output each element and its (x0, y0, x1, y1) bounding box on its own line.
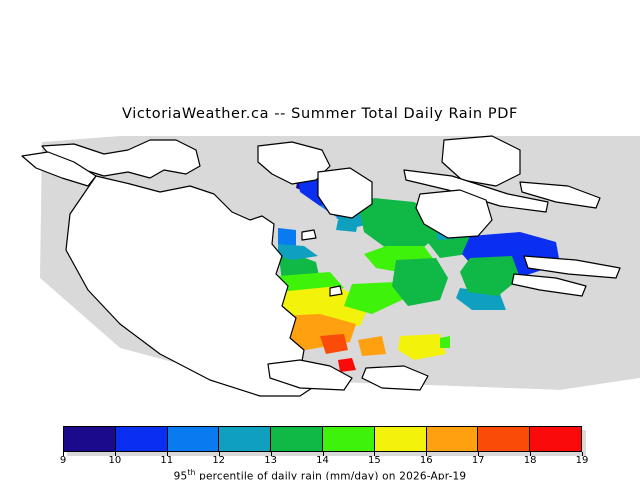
colorbar-caption: 95th percentile of daily rain (mm/day) o… (0, 468, 640, 480)
caption-ordinal-suffix: th (187, 468, 195, 477)
colorbar-ticklabel-13: 13 (264, 455, 277, 466)
weather-map-page: VictoriaWeather.ca -- Summer Total Daily… (0, 0, 640, 480)
colorbar-segment-18-19 (530, 427, 581, 451)
colorbar-legend: 910111213141516171819 95th percentile of… (0, 418, 640, 480)
colorbar-strip (63, 426, 582, 452)
colorbar-segment-10-11 (116, 427, 168, 451)
colorbar-ticklabel-14: 14 (316, 455, 329, 466)
colorbar-segment-14-15 (323, 427, 375, 451)
colorbar-tick-axis: 910111213141516171819 (63, 452, 584, 466)
colorbar-segment-16-17 (427, 427, 479, 451)
page-title: VictoriaWeather.ca -- Summer Total Daily… (0, 106, 640, 122)
colorbar-ticklabel-12: 12 (212, 455, 225, 466)
colorbar-segment-9-10 (64, 427, 116, 451)
colorbar-ticklabel-18: 18 (524, 455, 537, 466)
colorbar-ticklabel-10: 10 (109, 455, 122, 466)
coastline-map (0, 128, 640, 410)
colorbar-segment-13-14 (271, 427, 323, 451)
colorbar-ticklabel-11: 11 (160, 455, 173, 466)
colorbar-segment-15-16 (375, 427, 427, 451)
colorbar-segment-12-13 (219, 427, 271, 451)
colorbar-ticklabel-15: 15 (368, 455, 381, 466)
colorbar-ticklabel-16: 16 (420, 455, 433, 466)
colorbar-ticklabel-9: 9 (60, 455, 66, 466)
region-islet-teal-small (336, 220, 358, 232)
colorbar-ticklabel-19: 19 (576, 455, 589, 466)
colorbar-ticklabel-17: 17 (472, 455, 485, 466)
region-islet-blue-west (278, 228, 296, 246)
caption-text: percentile of daily rain (mm/day) on 202… (196, 471, 467, 480)
region-islet-green-tiny (440, 336, 450, 348)
colorbar-segment-17-18 (478, 427, 530, 451)
map-plot-area (0, 128, 640, 410)
colorbar-segment-11-12 (168, 427, 220, 451)
caption-number: 95 (174, 471, 188, 480)
